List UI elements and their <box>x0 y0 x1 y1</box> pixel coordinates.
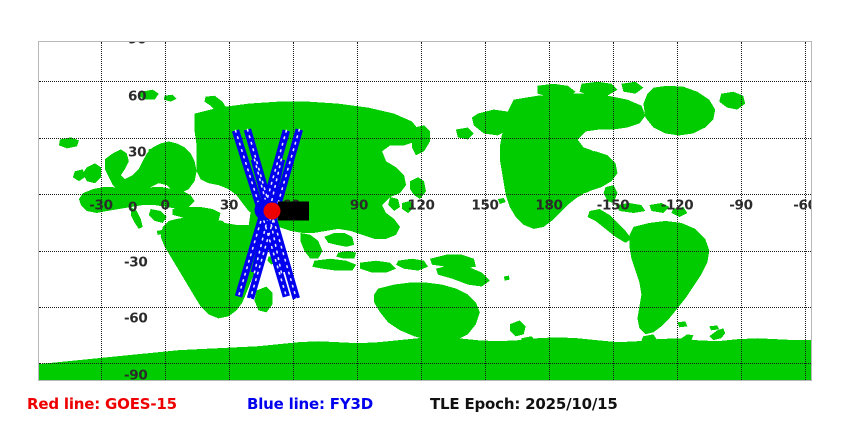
lon-tick-label: 0 <box>160 199 169 213</box>
lat-tick-label: -60 <box>124 312 148 326</box>
map-plot-area: -30 0 30 60 90 120 150 180 -150 -120 -90… <box>38 41 812 381</box>
lat-tick-label: -90 <box>124 369 148 381</box>
lon-tick-label: 90 <box>350 199 368 213</box>
legend-red-line-goes15: Red line: GOES-15 <box>27 397 177 412</box>
satellite-label-box <box>278 202 309 221</box>
satellite-groundtrack-page: { "colors": { "land": "#00CC00", "ocean"… <box>0 0 850 425</box>
lon-tick-label: -30 <box>89 199 113 213</box>
lon-tick-label: -150 <box>597 199 630 213</box>
lon-tick-label: -60 <box>793 199 812 213</box>
legend-blue-line-fy3d: Blue line: FY3D <box>247 397 373 412</box>
lon-tick-label: 30 <box>220 199 238 213</box>
map-legend: Red line: GOES-15 Blue line: FY3D TLE Ep… <box>0 393 850 421</box>
lon-tick-label: -120 <box>661 199 694 213</box>
lat-tick-label: 0 <box>128 201 137 215</box>
lon-tick-label: 180 <box>535 199 562 213</box>
lon-tick-label: 120 <box>407 199 434 213</box>
lon-tick-label: -90 <box>729 199 753 213</box>
lat-tick-label: 90 <box>128 41 146 47</box>
legend-tle-epoch: TLE Epoch: 2025/10/15 <box>430 397 618 412</box>
lat-tick-label: -30 <box>124 256 148 270</box>
lat-tick-label: 30 <box>128 146 146 160</box>
goes15-position-marker[interactable] <box>264 203 281 220</box>
lon-tick-label: 150 <box>471 199 498 213</box>
lat-tick-label: 60 <box>128 90 146 104</box>
